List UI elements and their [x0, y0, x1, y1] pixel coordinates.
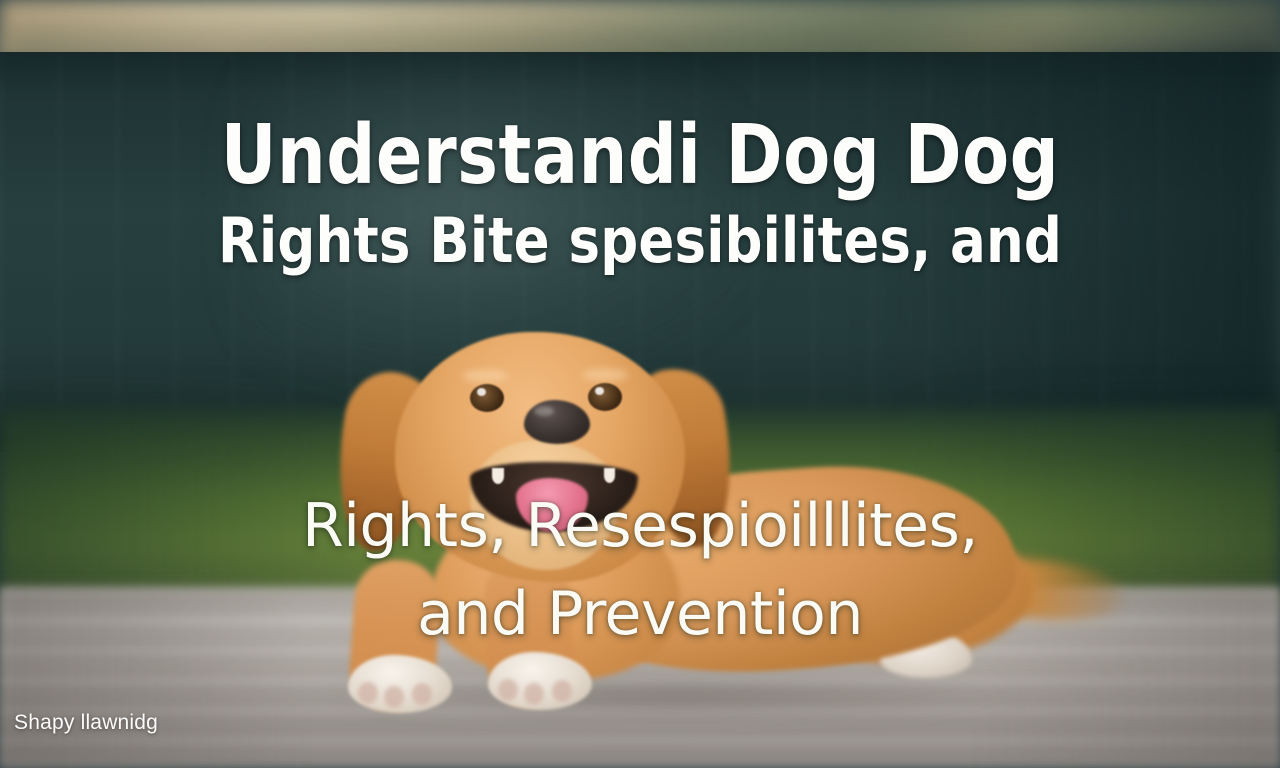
dog-toe [384, 686, 404, 708]
dog-nose [524, 400, 590, 444]
dog-brow-right [582, 369, 628, 381]
dog-toe [358, 682, 378, 704]
dog-eye-highlight [477, 388, 486, 396]
dog-brow-left [462, 370, 508, 382]
poster-canvas: Understandi Dog Dog Rights Bite spesibil… [0, 0, 1280, 768]
watermark-label: Shapy llawnidg [14, 711, 158, 735]
subhead-line-2: and Prevention [0, 570, 1280, 658]
headline-block: Understandi Dog Dog Rights Bite spesibil… [0, 108, 1280, 278]
dog-eye-left [470, 384, 504, 412]
dog-eye-right [588, 383, 622, 411]
dog-toe [524, 683, 544, 705]
dog-eye-highlight [595, 387, 604, 395]
dog-toe [412, 683, 432, 705]
headline-line-1: Understandi Dog Dog [45, 108, 1235, 204]
headline-line-2: Rights Bite spesibilites, and [32, 204, 1248, 278]
subhead-block: Rights, Resespioilllites, and Prevention [0, 482, 1280, 658]
subhead-line-1: Rights, Resespioilllites, [0, 482, 1280, 570]
dog-toe [552, 680, 572, 702]
dog-nose-highlight [534, 406, 554, 416]
dog-toe [498, 679, 518, 701]
dog-tooth [604, 468, 615, 483]
